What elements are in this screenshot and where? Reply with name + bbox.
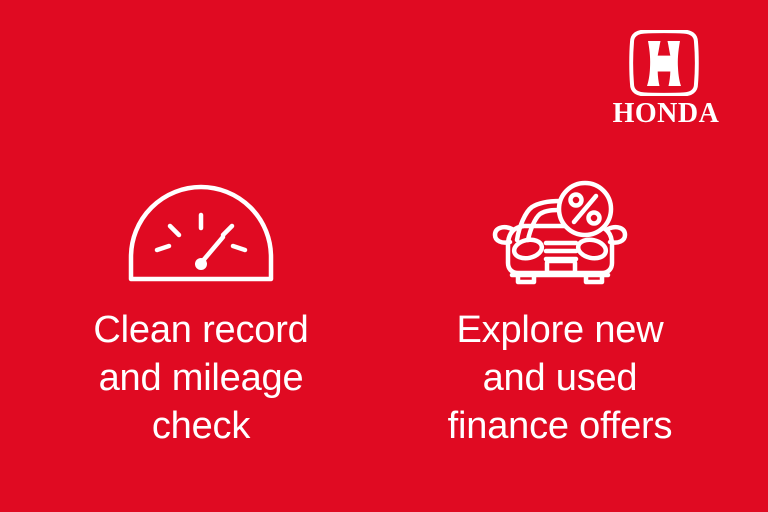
honda-h-emblem-icon: [626, 30, 702, 96]
honda-logo: HONDA: [596, 30, 736, 130]
honda-wordmark-text: HONDA: [613, 98, 720, 128]
feature-finance-offers-caption: Explore new and used finance offers: [395, 306, 725, 450]
feature-clean-record-caption: Clean record and mileage check: [36, 306, 366, 450]
feature-clean-record: Clean record and mileage check: [36, 180, 366, 450]
honda-promo-banner: HONDA Clean record and mileage check: [0, 0, 768, 512]
speedometer-icon: [127, 180, 275, 290]
feature-finance-offers: Explore new and used finance offers: [395, 180, 725, 450]
car-percent-icon: [490, 180, 630, 290]
honda-wordmark: HONDA: [596, 98, 736, 128]
